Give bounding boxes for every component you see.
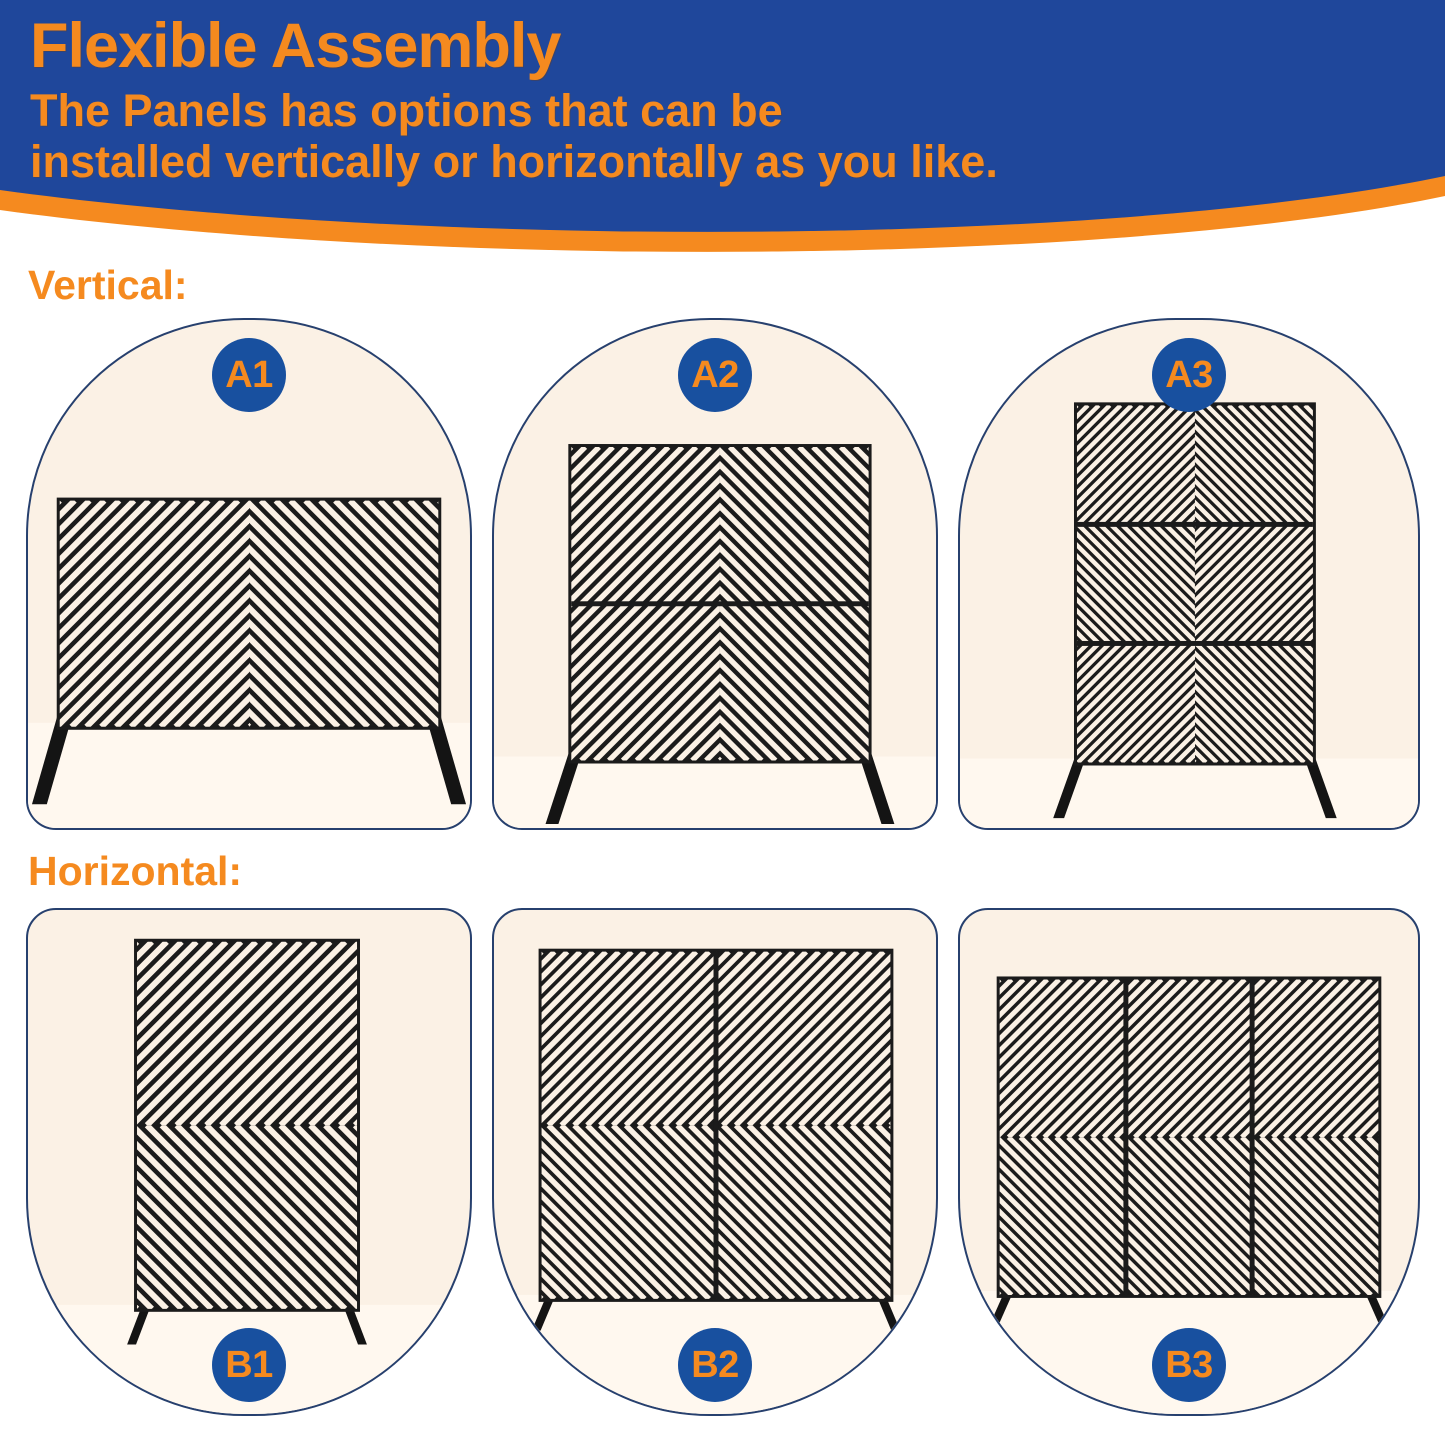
option-card-b3[interactable]: B3 — [958, 908, 1420, 1416]
page-subtitle-line-2: installed vertically or horizontally as … — [30, 137, 1320, 187]
section-label-vertical: Vertical: — [28, 262, 188, 309]
badge-b1: B1 — [212, 1328, 286, 1402]
page-subtitle: The Panels has options that can be insta… — [30, 86, 1320, 187]
option-card-b2[interactable]: B2 — [492, 908, 938, 1416]
badge-a1: A1 — [212, 338, 286, 412]
option-card-a2[interactable]: A2 — [492, 318, 938, 830]
option-card-a1[interactable]: A1 — [26, 318, 472, 830]
badge-a3: A3 — [1152, 338, 1226, 412]
option-card-b1[interactable]: B1 — [26, 908, 472, 1416]
option-card-a3[interactable]: A3 — [958, 318, 1420, 830]
page-title: Flexible Assembly — [30, 14, 1320, 78]
badge-a2: A2 — [678, 338, 752, 412]
page-subtitle-line-1: The Panels has options that can be — [30, 86, 1320, 136]
badge-b3: B3 — [1152, 1328, 1226, 1402]
badge-b2: B2 — [678, 1328, 752, 1402]
header-text: Flexible Assembly The Panels has options… — [30, 14, 1320, 187]
header-banner: Flexible Assembly The Panels has options… — [0, 0, 1445, 260]
section-label-horizontal: Horizontal: — [28, 848, 242, 895]
